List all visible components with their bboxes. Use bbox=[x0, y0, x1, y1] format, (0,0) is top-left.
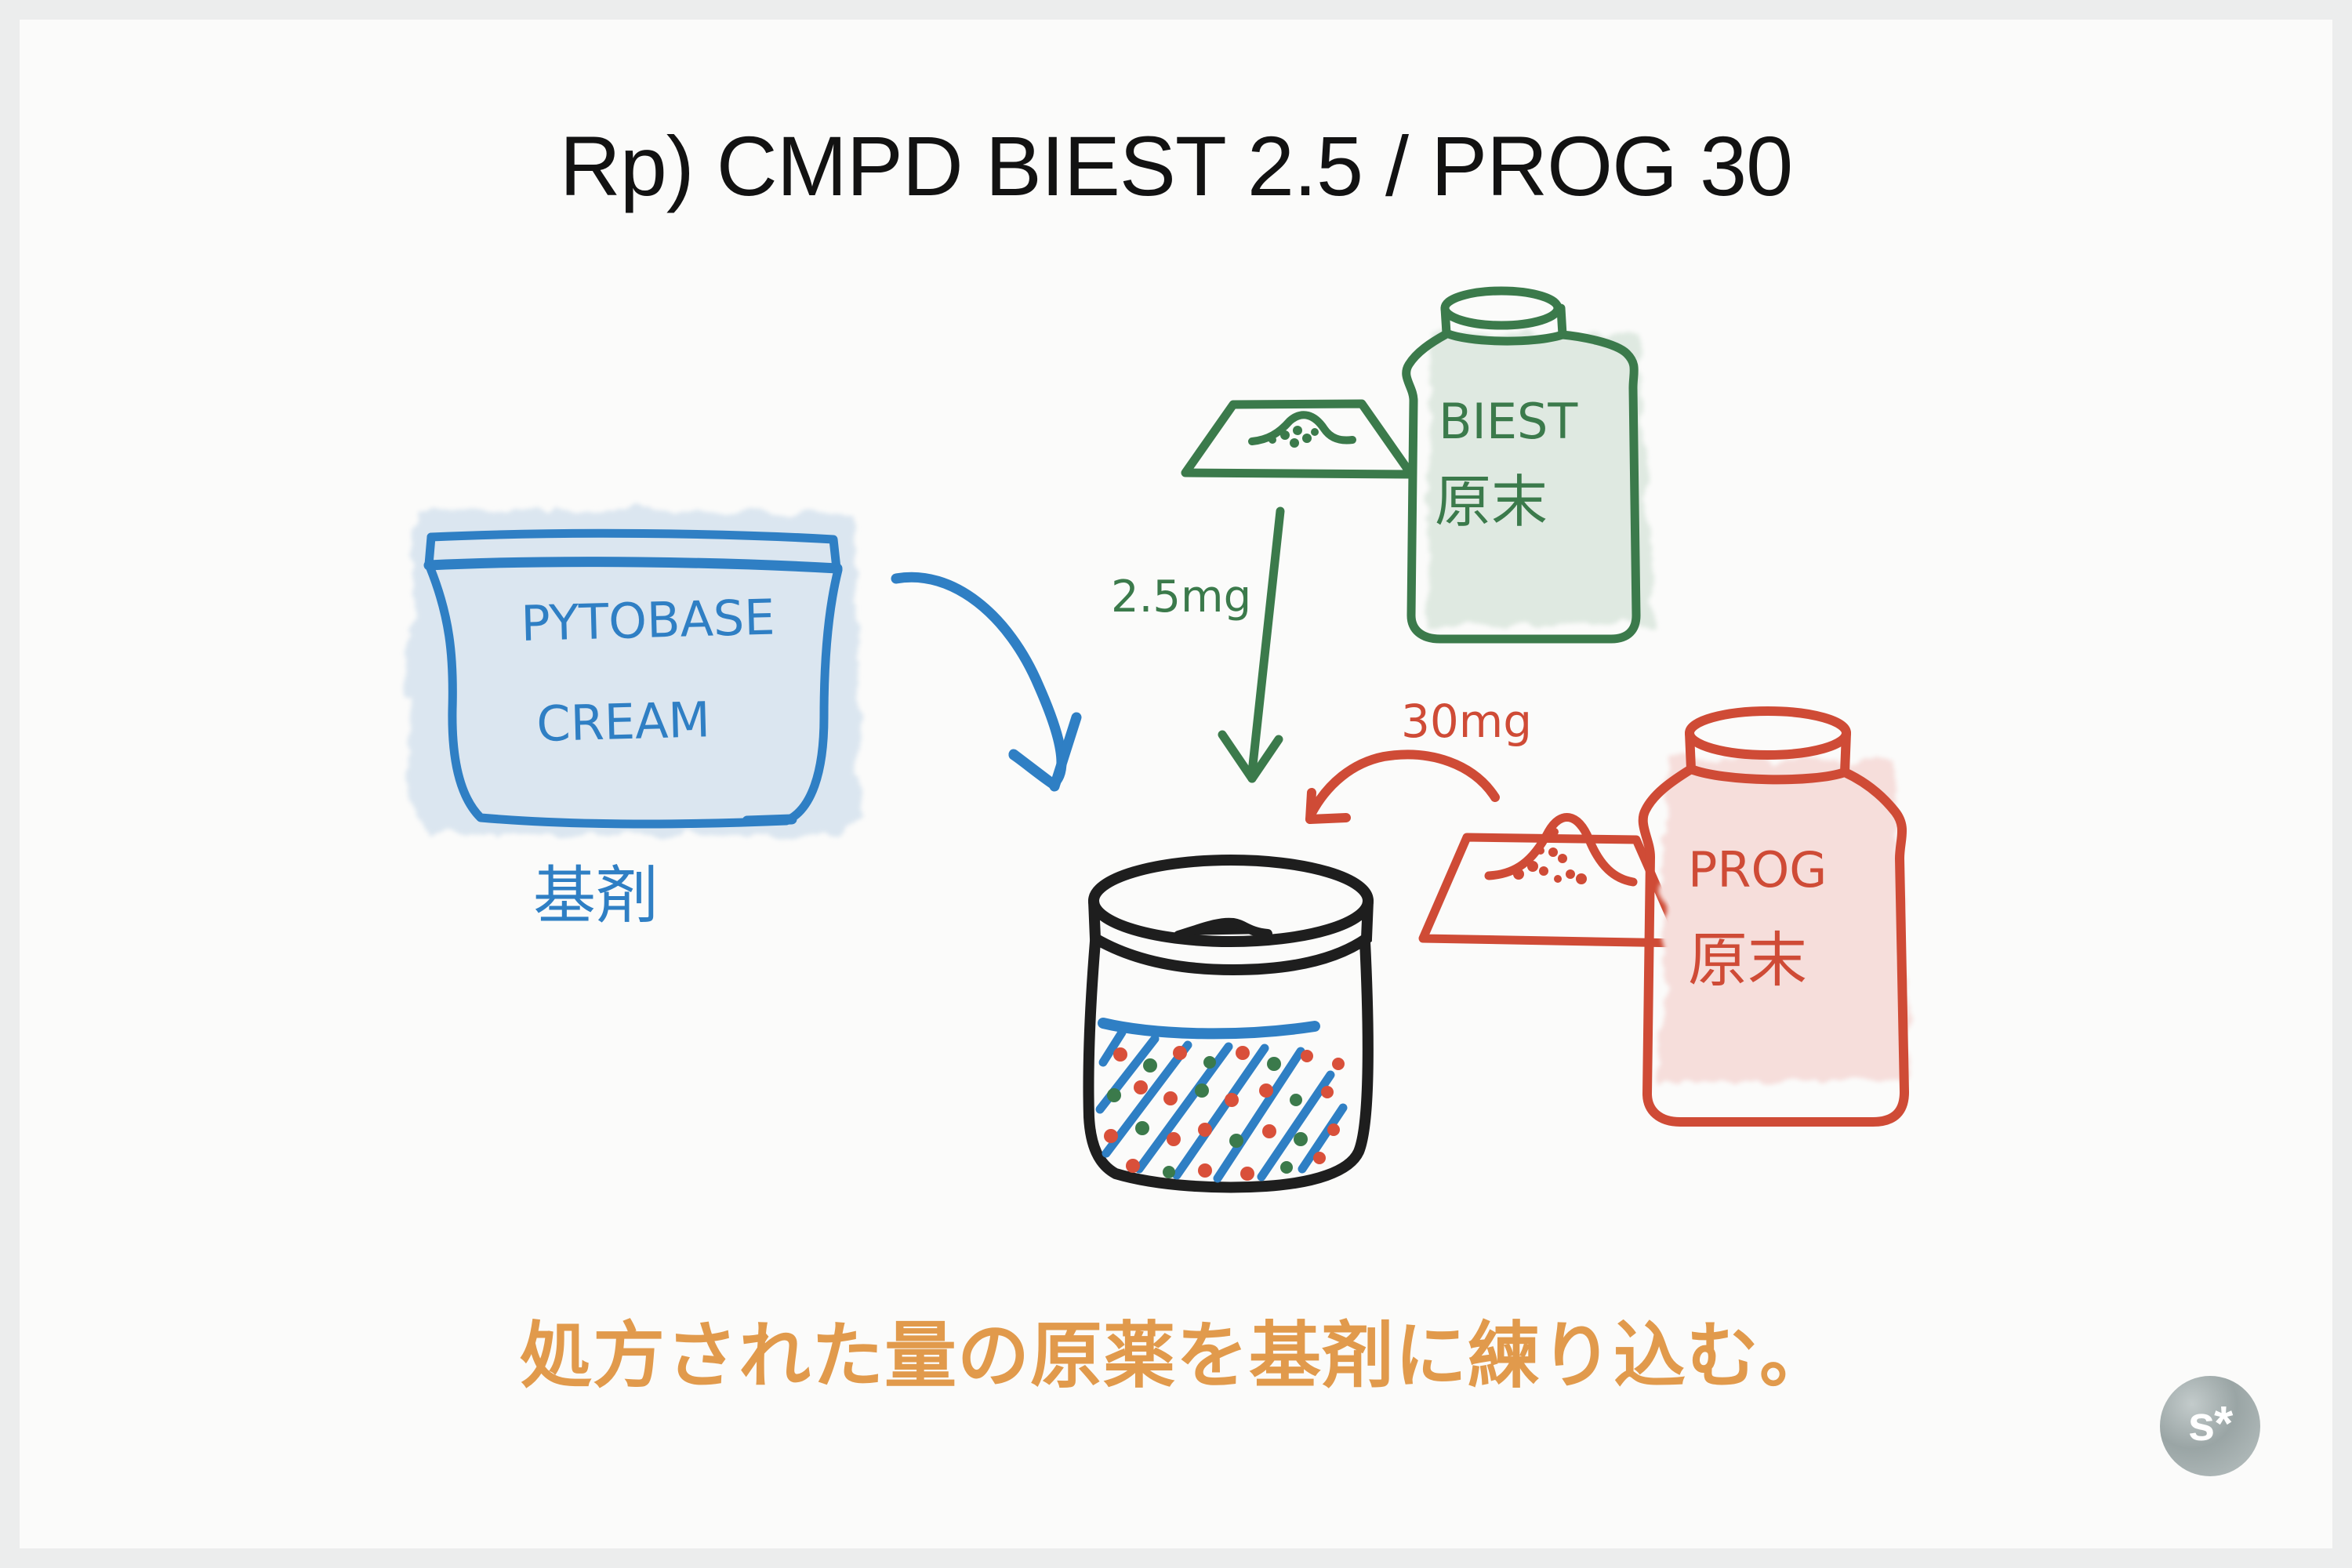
mixing-jar-group bbox=[1088, 860, 1368, 1187]
prog-jar-wash bbox=[1662, 757, 1909, 1083]
prog-jar-group: PROG 原末 bbox=[1643, 711, 1909, 1122]
mixing-jar-cream-surface bbox=[1103, 1023, 1315, 1033]
prog-jar-label-line1: PROG bbox=[1688, 841, 1827, 898]
base-container-label-line1: PYTOBASE bbox=[520, 589, 775, 652]
biest-jar-label-line2: 原末 bbox=[1435, 469, 1548, 535]
prog-dose-label: 30mg bbox=[1401, 695, 1532, 748]
brand-logo: s* bbox=[2160, 1376, 2260, 1476]
base-container-caption: 基剤 bbox=[533, 859, 659, 932]
biest-dose-label: 2.5mg bbox=[1111, 572, 1251, 622]
biest-jar-group: BIEST 原末 bbox=[1406, 291, 1654, 639]
slide-canvas: Rp) CMPD BIEST 2.5 / PROG 30 bbox=[20, 20, 2332, 1548]
prog-jar-mouth bbox=[1690, 711, 1846, 755]
brand-logo-text: s* bbox=[2188, 1400, 2233, 1449]
biest-to-jar-arrow bbox=[1222, 511, 1280, 779]
base-container-group: PYTOBASE CREAM 基剤 bbox=[405, 510, 860, 932]
biest-jar-mouth bbox=[1445, 291, 1558, 325]
base-container-foot bbox=[747, 819, 792, 821]
slide-caption: 処方された量の原薬を基剤に練り込む。 bbox=[20, 1298, 2332, 1402]
base-container-label-line2: CREAM bbox=[535, 691, 710, 753]
base-to-jar-arrow bbox=[896, 577, 1076, 786]
biest-weighing-paper bbox=[1185, 404, 1411, 474]
prog-jar-label-line2: 原末 bbox=[1688, 925, 1807, 995]
biest-jar-label-line1: BIEST bbox=[1439, 393, 1578, 450]
prog-to-jar-arrow bbox=[1310, 754, 1495, 819]
